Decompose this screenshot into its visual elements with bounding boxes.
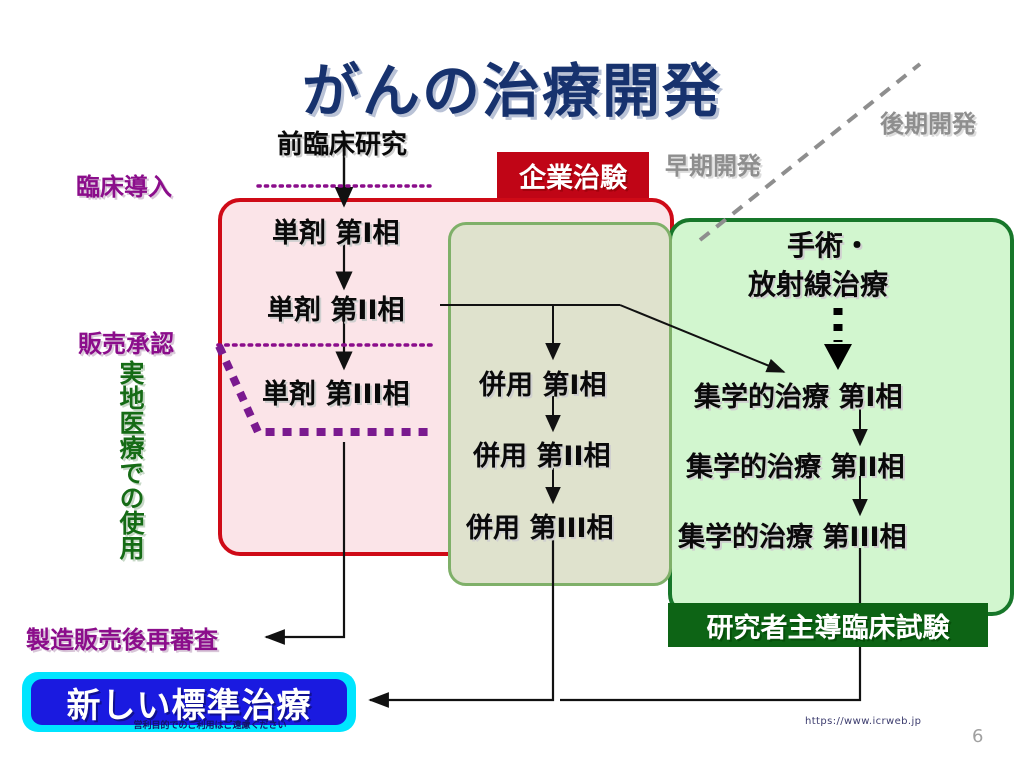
source-url: https://www.icrweb.jp <box>805 716 921 727</box>
copyright-watermark: 営利目的でのご利用はご遠慮ください <box>70 718 350 731</box>
phase-combination-2: 併用 第II相 <box>473 434 611 473</box>
green-header-line1: 手術・ <box>787 224 871 264</box>
phase-combination-3: 併用 第III相 <box>466 506 614 545</box>
phase-combination-1: 併用 第I相 <box>479 363 606 402</box>
preclinical-research-label: 前臨床研究 <box>277 124 407 161</box>
label-late-development: 後期開発 <box>880 104 976 139</box>
slide-canvas: がんの治療開発 前臨床研究 臨床導入 販売承認 実地医療での使用 製造販売後再審… <box>0 0 1024 768</box>
banner-company-trial: 企業治験 <box>497 152 649 198</box>
phase-multimodal-3: 集学的治療 第III相 <box>678 515 907 554</box>
green-header-line2: 放射線治療 <box>748 263 888 303</box>
banner-investigator-trial: 研究者主導臨床試験 <box>668 603 988 647</box>
label-practice-use: 実地医療での使用 <box>117 360 143 605</box>
label-early-development: 早期開発 <box>665 146 761 181</box>
page-number: 6 <box>972 726 983 747</box>
phase-monotherapy-3: 単剤 第III相 <box>262 372 410 411</box>
phase-monotherapy-1: 単剤 第I相 <box>272 211 399 250</box>
label-post-marketing-review: 製造販売後再審査 <box>26 620 218 655</box>
phase-monotherapy-2: 単剤 第II相 <box>267 288 405 327</box>
page-title: がんの治療開発 <box>0 44 1024 128</box>
phase-multimodal-1: 集学的治療 第I相 <box>694 375 902 414</box>
label-marketing-approval: 販売承認 <box>78 324 174 359</box>
phase-multimodal-2: 集学的治療 第II相 <box>686 445 905 484</box>
label-clinical-introduction: 臨床導入 <box>76 167 172 202</box>
